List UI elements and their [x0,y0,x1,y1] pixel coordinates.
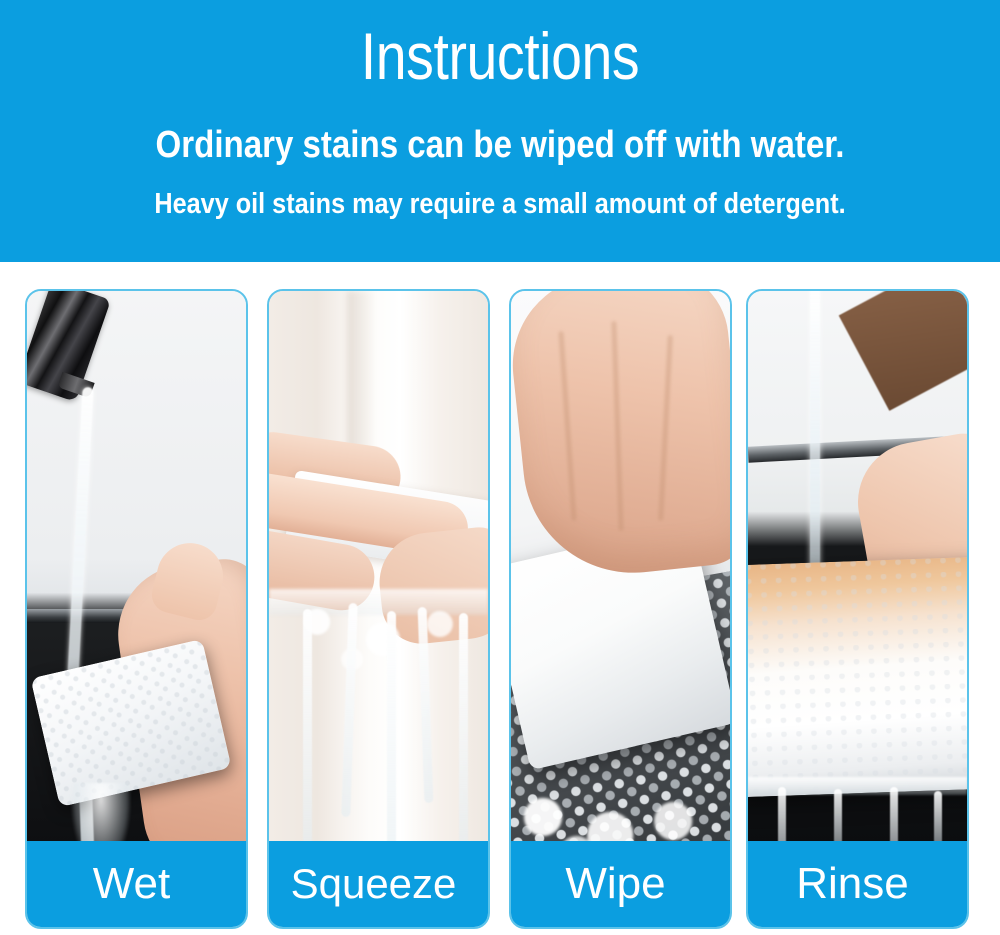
step-caption-wet: Wet [27,841,246,927]
step-photo-wet [27,291,246,871]
step-card-rinse[interactable]: Rinse [746,289,969,929]
step-card-wipe[interactable]: Wipe [509,289,732,929]
step-photo-rinse [748,291,967,871]
step-caption-squeeze: Squeeze [269,841,488,927]
step-caption-wipe: Wipe [511,841,730,927]
header-subtitle-line-2: Heavy oil stains may require a small amo… [65,186,935,222]
step-card-wet[interactable]: Wet [25,289,248,929]
header-subtitle-line-1: Ordinary stains can be wiped off with wa… [65,122,935,168]
step-photo-squeeze [269,291,488,871]
instructions-header: Instructions Ordinary stains can be wipe… [0,0,1000,262]
sponge [748,557,967,798]
step-card-squeeze[interactable]: Squeeze [267,289,490,929]
water-drip [459,613,468,855]
steps-gallery: Wet Squeeze [0,262,1000,935]
water-drip [303,609,312,859]
water-blobs [269,591,488,701]
step-photo-wipe [511,291,730,871]
page-title: Instructions [80,20,920,92]
water-stream [810,291,820,585]
water-drip [387,611,396,871]
step-caption-rinse: Rinse [748,841,967,927]
